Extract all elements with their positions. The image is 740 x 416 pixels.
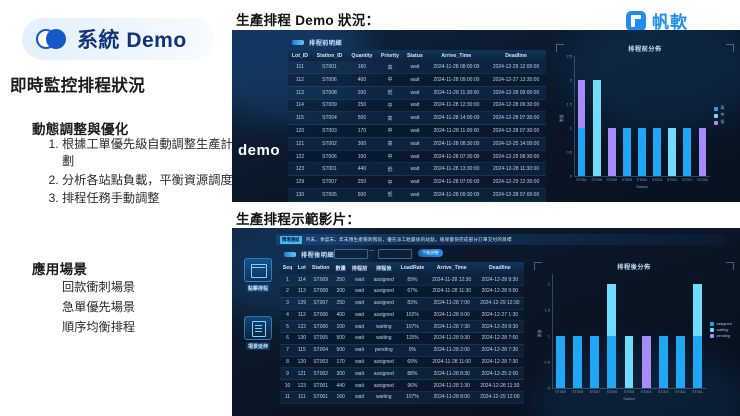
chart-bar[interactable] (578, 80, 586, 176)
chart-legend[interactable]: assignedwaitingpending (710, 322, 732, 338)
table-row[interactable]: 123ST001440低wait2024-11-28 13:30:002024-… (288, 163, 546, 176)
table-row[interactable]: 10123ST001440waitassigned96%2024-11-28 1… (280, 380, 524, 392)
column-header: Priority (377, 50, 403, 61)
table-cell: ST007 (312, 176, 347, 189)
table-cell: 500 (347, 189, 377, 202)
table-cell: 130 (288, 189, 312, 202)
table-cell: wait (403, 189, 427, 202)
chart-bar[interactable] (623, 128, 631, 176)
table-cell: 170 (347, 125, 377, 138)
table-cell: 2024-11-28 09:30:00 (427, 189, 486, 202)
bar-segment (578, 80, 586, 128)
table-cell: 2024-11-28 07:00:00 (427, 176, 486, 189)
table-cell: 2024-12-28 11:30:00 (486, 163, 546, 176)
table-cell: 69% (397, 356, 428, 368)
table-cell: 100 (347, 150, 377, 163)
steps-list: 根據工單優先級自動調整生產計劃 分析各站點負載，平衡資源調度 排程任務手動調整 (44, 136, 240, 208)
table-cell: 89% (397, 274, 428, 285)
chart-bar[interactable] (607, 284, 616, 388)
table-cell: 250 (333, 274, 349, 285)
table-cell: 2024-11-28 1:30 (428, 380, 476, 392)
table-cell: wait (349, 344, 371, 356)
chart-before-distribution[interactable]: 排程前分佈 00.511.522.5ST001ST006ST008ST009ST… (554, 42, 736, 198)
x-axis-tick: ST005 (697, 178, 708, 182)
subheading-dynamic-adjust: 動態調整與優化 (32, 118, 129, 138)
table-cell: 113 (288, 86, 312, 99)
table-cell: 200 (347, 86, 377, 99)
panel-head-before-detail: 排程前明細 (292, 38, 342, 47)
column-header: Arrive_Time (428, 262, 476, 274)
table-cell: ST001 (312, 61, 347, 73)
panel-title: 排程前明細 (309, 38, 342, 47)
column-header: Station_ID (312, 50, 347, 61)
table-cell: 7 (280, 344, 295, 356)
bar-segment (668, 128, 676, 176)
table-cell: 300 (347, 137, 377, 150)
table-cell: 2024-11-28 7:30 (428, 321, 476, 333)
table-cell: 2024-12-28 09:00:00 (486, 86, 546, 99)
x-axis-tick: ST008 (606, 178, 617, 182)
table-cell: wait (349, 368, 371, 380)
table-cell: ST007 (309, 297, 333, 309)
table-cell: 120 (295, 356, 309, 368)
table-row[interactable]: 6130ST005500waitwaiting115%2024-11-28 9:… (280, 333, 524, 345)
table-cell: 0% (397, 344, 428, 356)
table-cell: 500 (347, 112, 377, 125)
table-cell: wait (403, 125, 427, 138)
table-cell: wait (349, 380, 371, 392)
table-cell: 3 (280, 297, 295, 309)
chart-bar[interactable] (642, 336, 651, 388)
scenes-list: 回款衝刺場景 急單優先場景 順序均衡排程 (62, 278, 135, 337)
table-cell: 102% (397, 309, 428, 321)
y-axis-tick: 1.5 (563, 102, 572, 107)
table-cell: pending (370, 344, 397, 356)
column-header: 排程前 (349, 262, 371, 274)
table-cell: 115 (295, 344, 309, 356)
bar-segment (607, 336, 616, 388)
chart-legend[interactable]: 高中低 (714, 106, 724, 125)
chart-bar[interactable] (573, 336, 582, 388)
sidebar-button-run-schedule[interactable]: 點擊排程 (238, 258, 278, 292)
table-row[interactable]: 115ST004500高wait2024-11-28 14:00:002024-… (288, 112, 546, 125)
x-axis-tick: ST009 (622, 178, 633, 182)
table-cell: 250 (347, 99, 377, 112)
table-cell: ST005 (309, 333, 333, 345)
list-item: 分析各站點負載，平衡資源調度 (62, 172, 240, 189)
table-cell: 2024-11-28 12:30:00 (427, 99, 486, 112)
table-cell: 2024-11-28 9:00 (428, 309, 476, 321)
table-row[interactable]: 4112ST006400waitassigned102%2024-11-28 9… (280, 309, 524, 321)
x-axis (552, 388, 706, 389)
table-row[interactable]: 9121ST002300waitassigned88%2024-11-28 8:… (280, 368, 524, 380)
table-cell: 2024-11-28 08:30:00 (427, 137, 486, 150)
bar-segment (590, 336, 599, 388)
column-header: Deadline (486, 50, 546, 61)
table-cell: wait (349, 356, 371, 368)
chart-bar[interactable] (659, 336, 668, 388)
slide-title: 系統 Demo (77, 24, 187, 54)
table-cell: wait (349, 321, 371, 333)
table-cell: 2024-11-28 8:30 (428, 368, 476, 380)
table-cell: 2024-12-28 9:00 (476, 285, 524, 297)
legend-swatch (714, 114, 718, 118)
table-cell: ST002 (312, 137, 347, 150)
chart-bar[interactable] (668, 128, 676, 176)
table-cell: 4 (280, 309, 295, 321)
table-cell: ST006 (309, 321, 333, 333)
table-cell: 121 (295, 368, 309, 380)
table-row[interactable]: 8120ST003170waitassigned69%2024-11-28 11… (280, 356, 524, 368)
table-cell: 250 (333, 297, 349, 309)
bar-segment (556, 336, 565, 388)
column-header: 數量 (333, 262, 349, 274)
table-cell: ST004 (309, 344, 333, 356)
chart-bar[interactable] (590, 336, 599, 388)
chart-bar[interactable] (653, 128, 661, 176)
table-cell: 440 (347, 163, 377, 176)
column-header: Seq (280, 262, 295, 274)
table-cell: 129 (295, 297, 309, 309)
table-row[interactable]: 112ST006400中wait2024-11-28 09:00:002024-… (288, 73, 546, 86)
chart-bar[interactable] (693, 284, 702, 388)
table-cell: 400 (347, 73, 377, 86)
table-cell: assigned (370, 380, 397, 392)
table-cell: 2024-11-28 8:00 (428, 392, 476, 404)
table-cell: 低 (377, 163, 403, 176)
table-cell: 500 (333, 333, 349, 345)
table-cell: 中 (377, 176, 403, 189)
y-axis-tick: 0 (541, 386, 550, 391)
table-cell: 122 (295, 321, 309, 333)
y-axis-label: 數量 (538, 329, 543, 337)
table-row[interactable]: 122ST006100中wait2024-11-28 07:30:002024-… (288, 150, 546, 163)
bar-segment (642, 336, 651, 388)
x-axis-tick: ST006 (607, 390, 618, 394)
x-axis (574, 176, 710, 177)
chart-bar[interactable] (699, 128, 707, 176)
bar-segment (659, 336, 668, 388)
legend-item[interactable]: pending (710, 334, 732, 338)
table-cell: 122 (288, 150, 312, 163)
x-axis-tick: ST001 (576, 178, 587, 182)
legend-item[interactable]: waiting (710, 328, 732, 332)
legend-item[interactable]: assigned (710, 322, 732, 326)
title-pill: 系統 Demo (22, 18, 214, 60)
table-body: 1114ST009250waitassigned89%2024-11-28 12… (280, 274, 524, 403)
table-cell: 160 (347, 61, 377, 73)
y-axis-label: 數量 (560, 114, 565, 122)
table-cell: assigned (370, 274, 397, 285)
table-cell: waiting (370, 321, 397, 333)
demo-watermark: demo (238, 142, 280, 159)
table-cell: wait (403, 73, 427, 86)
table-cell: 83% (397, 297, 428, 309)
table-cell: ST009 (309, 274, 333, 285)
table-cell: ST006 (312, 150, 347, 163)
banner-text: 月末、季度末、年末預生產衝刺階段，優先派工給最後的站點，確保最快完成部分訂單交付… (306, 237, 512, 243)
table-cell: ST006 (312, 73, 347, 86)
table-cell: assigned (370, 297, 397, 309)
column-header: Status (403, 50, 427, 61)
chart-bar[interactable] (683, 128, 691, 176)
corner-decor (556, 44, 564, 52)
list-item: 順序均衡排程 (62, 318, 135, 338)
chart-bar[interactable] (638, 128, 646, 176)
table-cell: wait (403, 176, 427, 189)
x-axis-tick: ST008 (572, 390, 583, 394)
table-cell: 123 (295, 380, 309, 392)
sidebar-button-scenario-extend[interactable]: 場景延伸 (238, 316, 278, 350)
table-row[interactable]: 111ST001160高wait2024-11-28 08:00:002024-… (288, 61, 546, 73)
table-cell: 2024-12-28 11:30 (476, 380, 524, 392)
table-cell: 2024-11-28 11:30:00 (427, 86, 486, 99)
table-cell: 2024-12-28 07:30:00 (486, 112, 546, 125)
column-header: Lot_ID (288, 50, 312, 61)
table-cell: 2024-12-28 7:00 (476, 333, 524, 345)
y-axis-tick: 0.5 (563, 150, 572, 155)
legend-item[interactable]: 高 (714, 106, 724, 111)
legend-swatch (710, 322, 714, 326)
table-cell: 2024-11-28 12:30 (428, 274, 476, 285)
table-cell: wait (403, 150, 427, 163)
table-cell: 9 (280, 368, 295, 380)
table-cell: 中 (377, 125, 403, 138)
table-cell: 高 (377, 137, 403, 150)
table-cell: 115 (288, 112, 312, 125)
table-cell: 8 (280, 356, 295, 368)
table-body: 111ST001160高wait2024-11-28 08:00:002024-… (288, 61, 546, 201)
table-cell: 114 (288, 99, 312, 112)
table-cell: 114 (295, 274, 309, 285)
y-axis-tick: 2.5 (563, 54, 572, 59)
bar-segment (607, 284, 616, 336)
x-axis-tick: ST006 (591, 178, 602, 182)
bar-segment (676, 336, 685, 388)
table-cell: wait (349, 297, 371, 309)
table-cell: 2024-11-28 11:30 (428, 285, 476, 297)
left-panel: 系統 Demo 即時監控排程狀況 動態調整與優化 根據工單優先級自動調整生產計劃… (0, 0, 232, 416)
column-header: LoadRate (397, 262, 428, 274)
bar-segment (593, 80, 601, 176)
table-cell: 2024-12-28 9:30 (476, 274, 524, 285)
table-cell: 1 (280, 274, 295, 285)
table-cell: 2024-12-29 8:30 (476, 321, 524, 333)
x-axis-tick: ST002 (667, 178, 678, 182)
table-cell: 10 (280, 380, 295, 392)
table-cell: 2024-11-28 7:00 (428, 297, 476, 309)
table-row[interactable]: 113ST008200低wait2024-11-28 11:30:002024-… (288, 86, 546, 99)
bar-segment (693, 336, 702, 388)
x-axis-tick: ST003 (658, 390, 669, 394)
table-row[interactable]: 7115ST004500waitpending0%2024-11-28 2:00… (280, 344, 524, 356)
dashboard-after-scheduling[interactable]: 點擊排程 場景延伸 排程後明細 — 手動調整 SeqLotStation數量排程… (232, 228, 740, 416)
sidebar-button-label: 場景延伸 (246, 342, 270, 350)
bar-segment (693, 284, 702, 336)
table-cell: 2024-12-29 12:30:00 (486, 176, 546, 189)
table-cell: 107% (397, 321, 428, 333)
table-cell: 2024-12-25 2:00 (476, 368, 524, 380)
scenario-banner: 情境連結 月末、季度末、年末預生產衝刺階段，優先派工給最後的站點，確保最快完成部… (276, 234, 726, 245)
table-cell: 111 (288, 61, 312, 73)
table-cell: 中 (377, 99, 403, 112)
table-cell: 160 (333, 392, 349, 404)
table-cell: 88% (397, 368, 428, 380)
chart-bar[interactable] (608, 128, 616, 176)
y-axis-tick: 0.5 (541, 360, 550, 365)
table-cell: 2024-11-28 11:00 (428, 356, 476, 368)
table-cell: 2024-12-28 7:30 (476, 344, 524, 356)
table-cell: 100 (333, 321, 349, 333)
legend-label: assigned (717, 322, 732, 326)
table-cell: 112 (295, 309, 309, 321)
panel-icon (292, 40, 304, 45)
y-axis-tick: 0 (563, 174, 572, 179)
column-header: 排程後 (370, 262, 397, 274)
table-cell: 2 (280, 285, 295, 297)
chart-after-distribution[interactable]: 排程後分佈 00.511.52ST009ST008ST007ST006ST005… (532, 260, 736, 410)
bar-segment (625, 336, 634, 388)
bar-segment (683, 128, 691, 176)
table-cell: waiting (370, 392, 397, 404)
chart-bar[interactable] (593, 80, 601, 176)
chart-title: 排程前分佈 (554, 44, 736, 53)
table-row[interactable]: 11111ST001160waitwaiting107%2024-11-28 8… (280, 392, 524, 404)
x-axis-tick: ST004 (637, 178, 648, 182)
y-axis (574, 56, 575, 176)
table-cell: wait (403, 61, 427, 73)
table-cell: wait (403, 86, 427, 99)
table-cell: 2024-12-29 08:30:00 (486, 150, 546, 163)
bar-segment (699, 128, 707, 176)
x-axis-tick: ST005 (624, 390, 635, 394)
table-cell: 2024-11-28 11:00:00 (427, 125, 486, 138)
table-row[interactable]: 3129ST007250waitassigned83%2024-11-28 7:… (280, 297, 524, 309)
x-axis-tick: ST003 (652, 178, 663, 182)
table-cell: ST006 (309, 309, 333, 321)
banner-tag: 情境連結 (280, 236, 302, 244)
section-title-demo-video: 生產排程示範影片： (236, 208, 360, 228)
table-cell: 2024-11-28 07:30:00 (427, 150, 486, 163)
table-cell: 200 (333, 285, 349, 297)
chart-bar[interactable] (556, 336, 565, 388)
bar-segment (653, 128, 661, 176)
table-row[interactable]: 129ST007250中wait2024-11-28 07:00:002024-… (288, 176, 546, 189)
table-cell: 2024-12-29 12:00:00 (486, 61, 546, 73)
table-cell: 低 (377, 86, 403, 99)
calendar-icon (244, 258, 272, 282)
manual-adjust-button[interactable]: 手動調整 (418, 249, 443, 257)
document-icon (244, 316, 272, 340)
table-cell: 中 (377, 73, 403, 86)
slide-root: 系統 Demo 即時監控排程狀況 動態調整與優化 根據工單優先級自動調整生產計劃… (0, 0, 740, 416)
y-axis-tick: 1.5 (541, 308, 550, 313)
table-after-scheduling[interactable]: SeqLotStation數量排程前排程後LoadRateArrive_Time… (280, 262, 524, 404)
table-cell: 6 (280, 333, 295, 345)
table-cell: 高 (377, 112, 403, 125)
table-row[interactable]: 114ST009250中wait2024-11-28 12:30:002024-… (288, 99, 546, 112)
toggle-circles-icon (36, 29, 68, 49)
table-row[interactable]: 1114ST009250waitassigned89%2024-11-28 12… (280, 274, 524, 285)
table-cell: waiting (370, 333, 397, 345)
sidebar-button-label: 點擊排程 (246, 284, 270, 292)
legend-label: 高 (721, 106, 725, 111)
table-cell: ST008 (312, 86, 347, 99)
bar-segment (623, 128, 631, 176)
table-cell: 400 (333, 309, 349, 321)
legend-label: pending (717, 334, 731, 338)
table-cell: 112 (288, 73, 312, 86)
table-cell: ST001 (312, 163, 347, 176)
table-cell: 11 (280, 392, 295, 404)
x-axis-label: Station (552, 397, 706, 401)
chart-bar[interactable] (676, 336, 685, 388)
table-cell: 250 (347, 176, 377, 189)
table-cell: 2024-11-28 9:30 (428, 333, 476, 345)
table-row[interactable]: 130ST005500低wait2024-11-28 09:30:002024-… (288, 189, 546, 202)
table-cell: 121 (288, 137, 312, 150)
table-cell: 300 (333, 368, 349, 380)
legend-label: waiting (717, 328, 729, 332)
table-before-scheduling[interactable]: Lot_IDStation_IDQuantityPriorityStatusAr… (288, 50, 546, 202)
table-cell: assigned (370, 368, 397, 380)
panel-title: 排程後明細 (301, 250, 334, 259)
table-cell: 2024-12-29 12:00 (476, 392, 524, 404)
chart-bar[interactable] (625, 336, 634, 388)
table-cell: wait (349, 333, 371, 345)
legend-item[interactable]: 低 (714, 120, 724, 125)
table-cell: 115% (397, 333, 428, 345)
table-cell: ST008 (309, 285, 333, 297)
table-cell: ST003 (312, 125, 347, 138)
legend-label: 中 (721, 113, 725, 118)
table-row[interactable]: 2113ST008200waitassigned67%2024-11-28 11… (280, 285, 524, 297)
y-axis-tick: 2 (541, 282, 550, 287)
table-cell: 111 (295, 392, 309, 404)
table-cell: wait (349, 285, 371, 297)
table-cell: 2024-12-27 1:30 (476, 309, 524, 321)
column-header: Lot (295, 262, 309, 274)
table-row[interactable]: 5122ST006100waitwaiting107%2024-11-28 7:… (280, 321, 524, 333)
date-from-input[interactable] (334, 249, 368, 259)
table-cell: 高 (377, 61, 403, 73)
x-axis-tick: ST009 (555, 390, 566, 394)
section-title-demo-status: 生產排程 Demo 狀況： (236, 9, 379, 29)
dashboard-before-scheduling[interactable]: demo 排程前明細 Lot_IDStation_IDQuantityPrior… (232, 30, 740, 202)
table-cell: wait (349, 274, 371, 285)
legend-swatch (714, 107, 718, 111)
table-cell: 2024-12-29 12:30 (476, 297, 524, 309)
table-cell: 中 (377, 150, 403, 163)
table-cell: 2024-11-28 13:30:00 (427, 163, 486, 176)
bar-segment (573, 336, 582, 388)
list-item: 回款衝刺場景 (62, 278, 135, 298)
table-cell: 2024-12-28 7:30 (476, 356, 524, 368)
table-cell: 2024-12-28 09:30:00 (486, 99, 546, 112)
date-to-input[interactable] (378, 249, 412, 259)
legend-item[interactable]: 中 (714, 113, 724, 118)
table-cell: assigned (370, 356, 397, 368)
bar-segment (578, 128, 586, 176)
y-axis-tick: 1 (563, 126, 572, 131)
table-cell: 2024-11-28 08:00:00 (427, 61, 486, 73)
x-axis-label: Station (574, 185, 710, 189)
table-row[interactable]: 121ST002300高wait2024-11-28 08:30:002024-… (288, 137, 546, 150)
panel-head-after-detail: 排程後明細 (284, 250, 334, 259)
table-row[interactable]: 120ST003170中wait2024-11-28 11:00:002024-… (288, 125, 546, 138)
subheading-use-cases: 應用場景 (32, 258, 87, 278)
table-cell: 130 (295, 333, 309, 345)
